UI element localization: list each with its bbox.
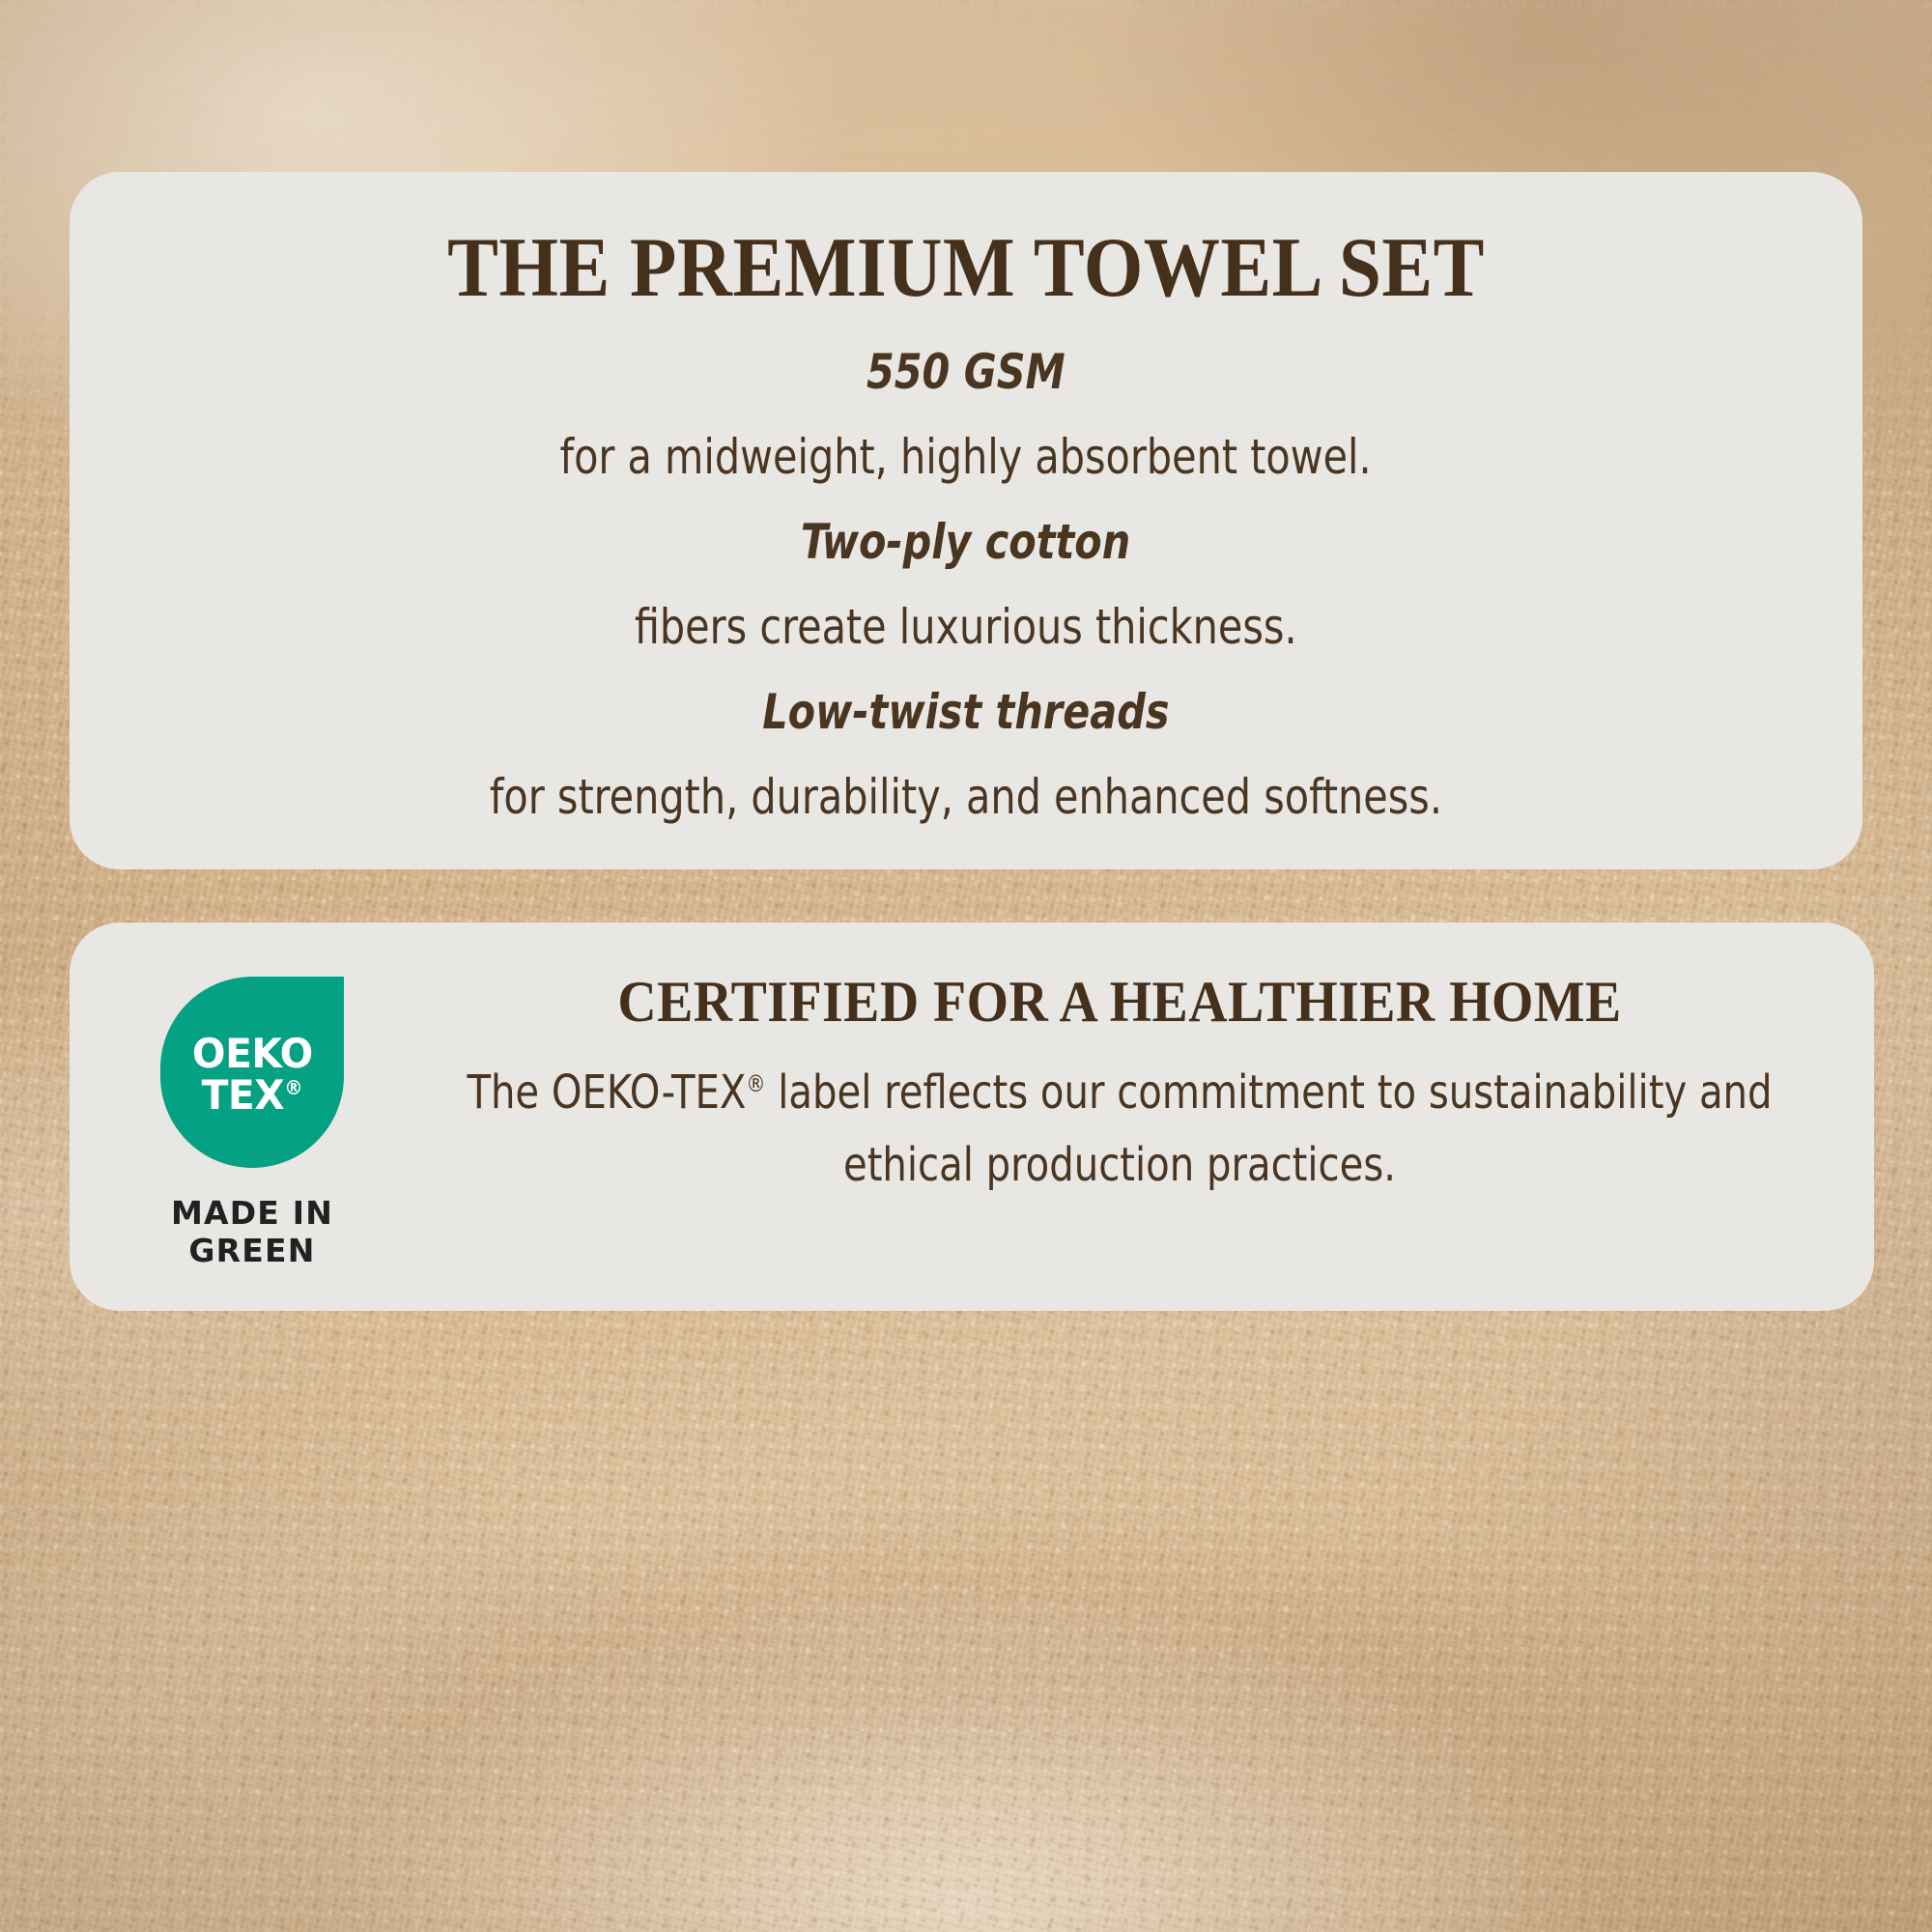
made-in-green-line-1: MADE IN	[126, 1195, 379, 1233]
feature-line-gsm: 550 GSM	[867, 344, 1065, 400]
made-in-green-line-2: GREEN	[126, 1233, 379, 1270]
oeko-logo-line-2: TEX®	[202, 1075, 303, 1117]
feature-line-low-twist-threads: Low-twist threads	[762, 684, 1169, 740]
feature-line-two-ply-cotton: Two-ply cotton	[801, 514, 1130, 570]
certification-paragraph-part-1: The OEKO-TEX	[467, 1065, 746, 1120]
certification-title: CERTIFIED FOR A HEALTHIER HOME	[448, 973, 1790, 1032]
oeko-tex-droplet-icon: OEKO TEX®	[160, 977, 344, 1168]
feature-card: THE PREMIUM TOWEL SET 550 GSM for a midw…	[70, 172, 1862, 869]
feature-line-gsm-description: for a midweight, highly absorbent towel.	[560, 429, 1372, 485]
certification-paragraph: The OEKO-TEX® label reflects our commitm…	[448, 1057, 1790, 1202]
feature-line-list: 550 GSM for a midweight, highly absorben…	[70, 311, 1862, 825]
certification-registered-mark: ®	[746, 1070, 765, 1097]
certification-paragraph-part-2: label reflects our commitment to sustain…	[766, 1065, 1773, 1192]
certification-text-block: CERTIFIED FOR A HEALTHIER HOME The OEKO-…	[398, 973, 1841, 1202]
certification-card: OEKO TEX® MADE IN GREEN CERTIFIED FOR A …	[70, 923, 1874, 1311]
oeko-logo-line-2-text: TEX	[202, 1071, 285, 1119]
feature-line-low-twist-description: for strength, durability, and enhanced s…	[490, 769, 1442, 825]
oeko-tex-logo: OEKO TEX® MADE IN GREEN	[126, 977, 379, 1270]
page-title: THE PREMIUM TOWEL SET	[159, 172, 1773, 311]
oeko-logo-line-1: OEKO	[192, 1034, 313, 1075]
made-in-green-caption: MADE IN GREEN	[126, 1195, 379, 1270]
feature-line-two-ply-description: fibers create luxurious thickness.	[635, 599, 1297, 655]
oeko-logo-registered-mark: ®	[284, 1076, 302, 1099]
